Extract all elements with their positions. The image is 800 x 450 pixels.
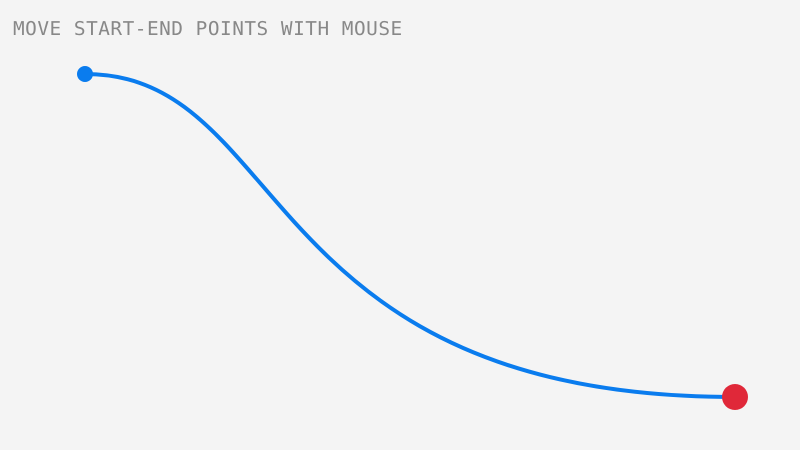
page-title: MOVE START-END POINTS WITH MOUSE (13, 17, 403, 41)
curve-svg (0, 0, 800, 450)
app-root: MOVE START-END POINTS WITH MOUSE (0, 0, 800, 450)
bezier-curve-path (85, 74, 735, 397)
end-point-handle[interactable] (722, 384, 748, 410)
curve-canvas[interactable] (0, 0, 800, 450)
start-point-handle[interactable] (77, 66, 93, 82)
